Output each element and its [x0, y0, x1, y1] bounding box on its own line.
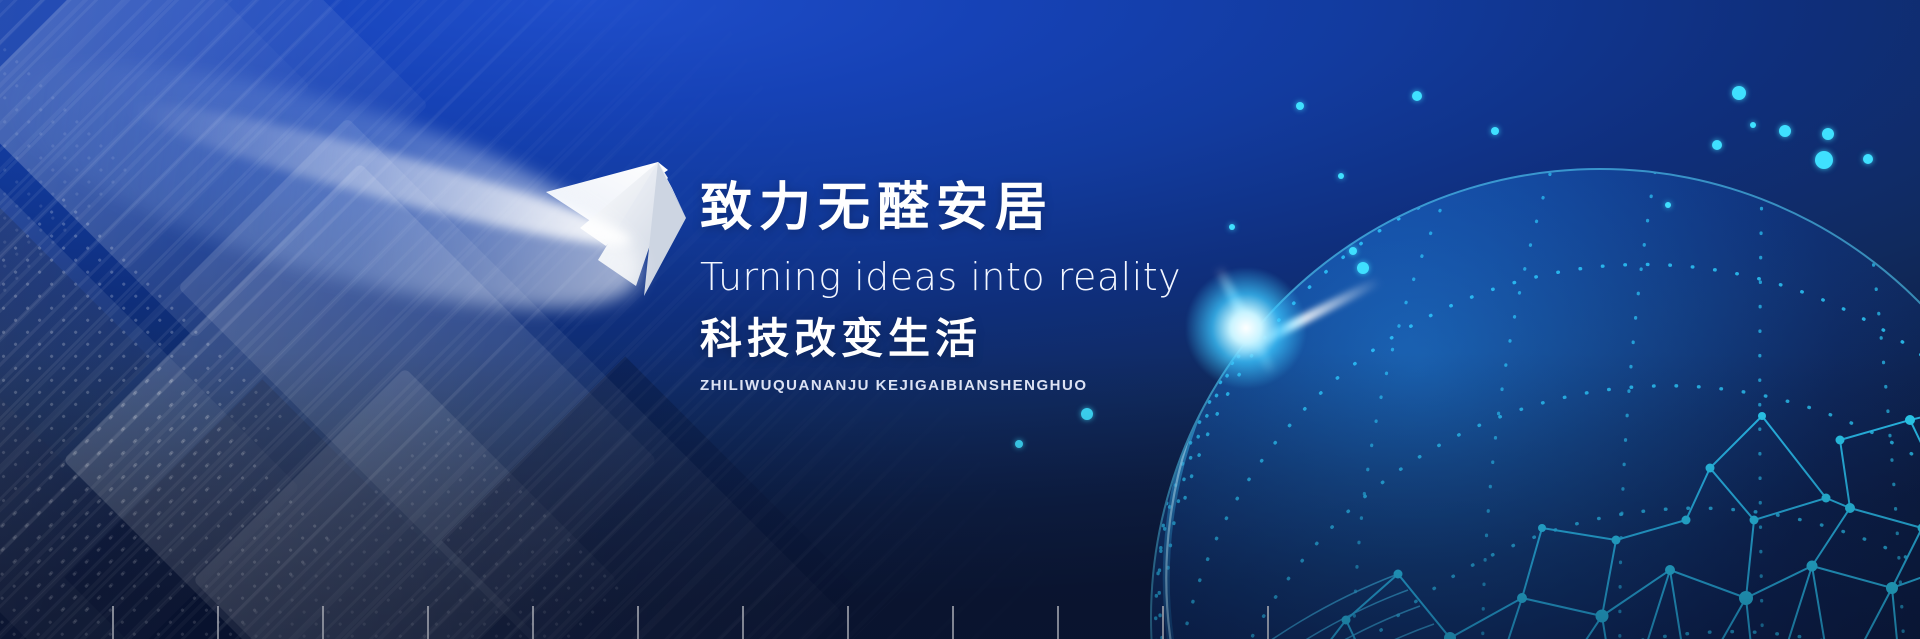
- tick-mark: [532, 606, 534, 639]
- accent-dot: [1863, 154, 1873, 164]
- bottom-tick-scale: [0, 603, 1920, 639]
- tick-mark: [637, 606, 639, 639]
- accent-dot: [1081, 408, 1093, 420]
- page-subtitle-en: Turning ideas into reality: [700, 249, 1420, 306]
- page-title: 致力无醛安居: [700, 178, 1420, 239]
- accent-dot: [1732, 86, 1746, 100]
- accent-dot: [1822, 128, 1834, 140]
- page-pinyin: ZHILIWUQUANANJU KEJIGAIBIANSHENGHUO: [700, 377, 1420, 394]
- tick-mark: [427, 606, 429, 639]
- accent-dot: [1750, 122, 1756, 128]
- tick-mark: [847, 606, 849, 639]
- accent-dot: [1815, 151, 1833, 169]
- hero-banner: 致力无醛安居 Turning ideas into reality 科技改变生活…: [0, 0, 1920, 639]
- accent-dot: [1491, 127, 1499, 135]
- accent-dot: [1015, 440, 1023, 448]
- tick-mark: [742, 606, 744, 639]
- tick-mark: [112, 606, 114, 639]
- tick-mark: [1162, 606, 1164, 639]
- page-subtitle-cn: 科技改变生活: [700, 314, 1420, 364]
- accent-dot: [1779, 125, 1791, 137]
- hero-text-block: 致力无醛安居 Turning ideas into reality 科技改变生活…: [700, 178, 1420, 394]
- accent-dot: [1412, 91, 1422, 101]
- accent-dot: [1296, 102, 1304, 110]
- tick-mark: [1267, 606, 1269, 639]
- tick-mark: [322, 606, 324, 639]
- accent-dot: [1665, 202, 1671, 208]
- accent-dot: [1712, 140, 1722, 150]
- tick-mark: [217, 606, 219, 639]
- tick-mark: [952, 606, 954, 639]
- tick-mark: [1057, 606, 1059, 639]
